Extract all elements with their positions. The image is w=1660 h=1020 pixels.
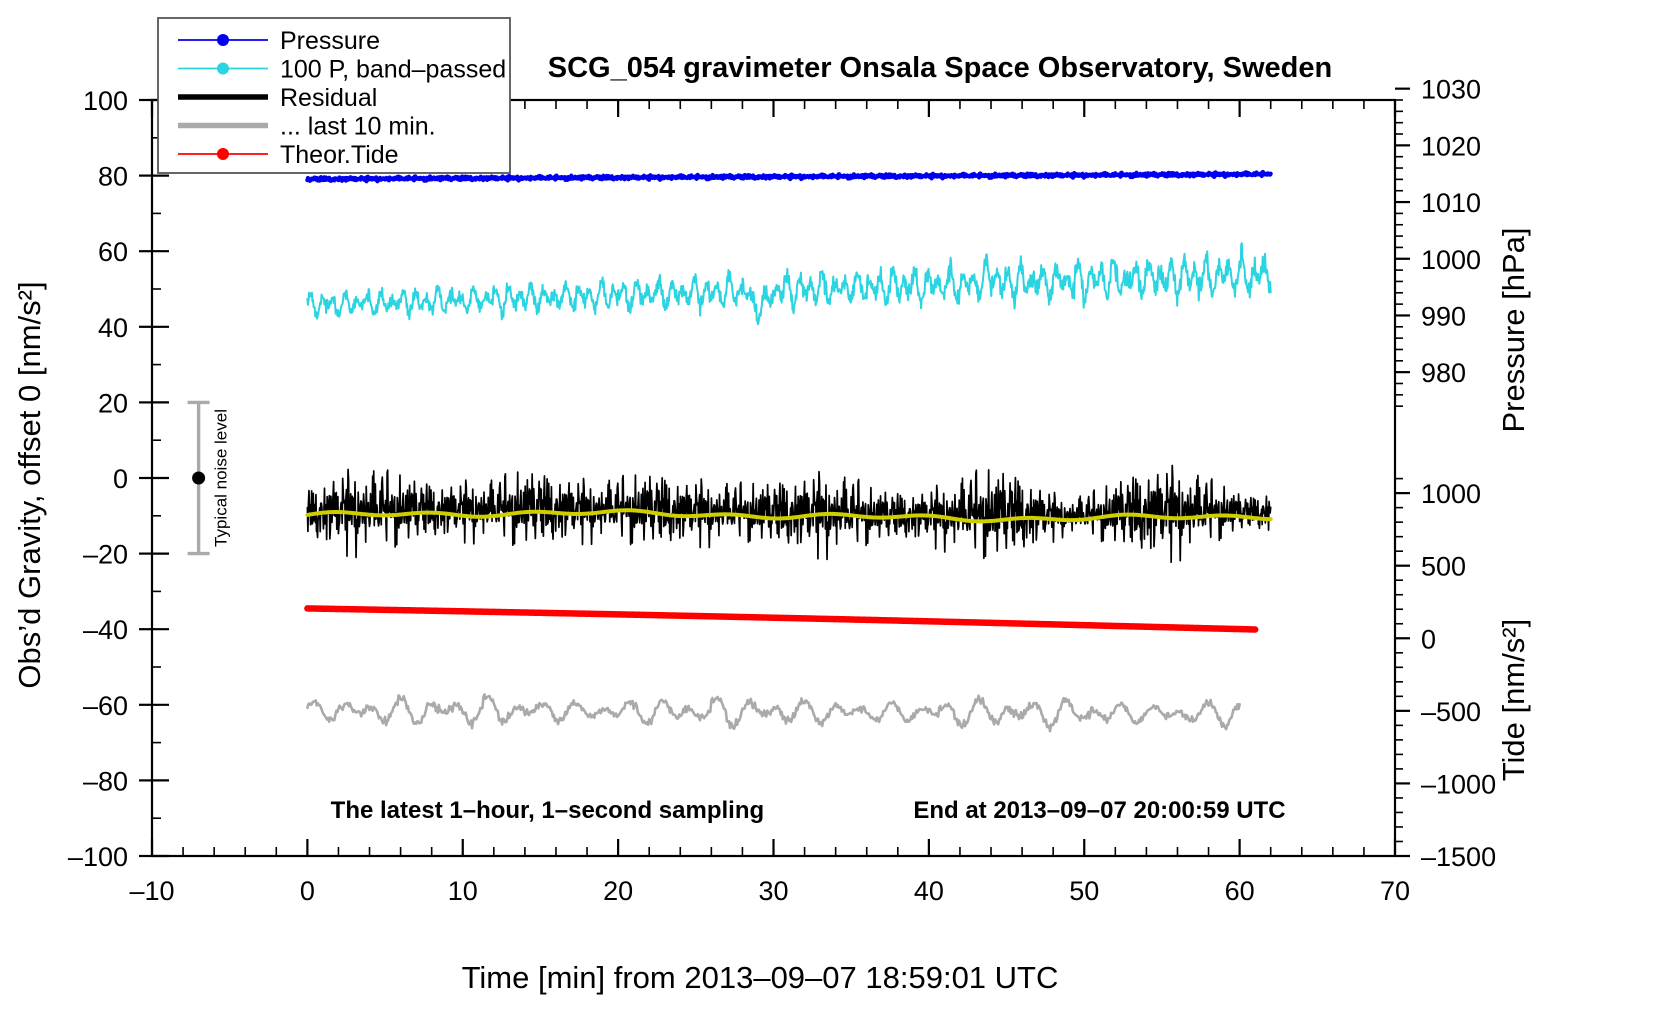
pressure-tick-label: 980: [1421, 358, 1466, 388]
tide-tick-label: –1500: [1421, 842, 1496, 872]
legend-label-3[interactable]: ... last 10 min.: [280, 113, 436, 141]
legend-label-4[interactable]: Theor.Tide: [280, 141, 399, 169]
x-tick-label: –10: [129, 876, 174, 906]
tide-tick-label: 500: [1421, 552, 1466, 582]
tide-tick-label: 1000: [1421, 479, 1481, 509]
pressure-tick-label: 1020: [1421, 131, 1481, 161]
gravimeter-chart: SCG_054 gravimeter Onsala Space Observat…: [0, 0, 1660, 1020]
y-tick-label: 60: [98, 237, 128, 267]
tide-tick-label: –1000: [1421, 769, 1496, 799]
y-tick-label: 0: [113, 464, 128, 494]
legend-marker-1: [217, 63, 229, 75]
y-tick-label: –20: [83, 540, 128, 570]
pressure-tick-label: 1010: [1421, 188, 1481, 218]
chart-legend[interactable]: Pressure100 P, band–passedResidual... la…: [158, 18, 510, 173]
y-tick-label: 100: [83, 86, 128, 116]
right-pressure-axis-title: Pressure [hPa]: [1496, 227, 1531, 432]
y-tick-label: –40: [83, 615, 128, 645]
x-tick-label: 0: [300, 876, 315, 906]
y-tick-label: 40: [98, 313, 128, 343]
y-axis-title: Obs’d Gravity, offset 0 [nm/s²]: [12, 281, 47, 688]
tide-tick-label: –500: [1421, 697, 1481, 727]
x-tick-label: 10: [448, 876, 478, 906]
x-tick-label: 70: [1380, 876, 1410, 906]
legend-label-0[interactable]: Pressure: [280, 27, 380, 55]
x-tick-label: 60: [1225, 876, 1255, 906]
pressure-tick-label: 1030: [1421, 75, 1481, 105]
noise-level-point: [192, 472, 205, 485]
chart-title: SCG_054 gravimeter Onsala Space Observat…: [548, 52, 1332, 84]
legend-label-2[interactable]: Residual: [280, 84, 377, 112]
x-tick-label: 20: [603, 876, 633, 906]
x-tick-label: 40: [914, 876, 944, 906]
y-tick-label: –80: [83, 766, 128, 796]
noise-level-label: Typical noise level: [212, 409, 231, 547]
legend-marker-4: [217, 148, 229, 160]
pressure-tick-label: 990: [1421, 301, 1466, 331]
y-tick-label: –60: [83, 691, 128, 721]
pressure-tick-label: 1000: [1421, 245, 1481, 275]
right-tide-axis-title: Tide [nm/s²]: [1496, 619, 1531, 782]
legend-marker-0: [217, 34, 229, 46]
sampling-note: The latest 1–hour, 1–second sampling: [331, 797, 764, 824]
tide-tick-label: 0: [1421, 624, 1436, 654]
legend-label-1[interactable]: 100 P, band–passed: [280, 56, 506, 84]
end-time-note: End at 2013–09–07 20:00:59 UTC: [913, 797, 1285, 824]
x-tick-label: 50: [1069, 876, 1099, 906]
x-axis-title: Time [min] from 2013–09–07 18:59:01 UTC: [462, 960, 1059, 995]
y-tick-label: 20: [98, 388, 128, 418]
y-tick-label: –100: [68, 842, 128, 872]
x-tick-label: 30: [758, 876, 788, 906]
chart-page: SCG_054 gravimeter Onsala Space Observat…: [0, 0, 1660, 1020]
y-tick-label: 80: [98, 162, 128, 192]
